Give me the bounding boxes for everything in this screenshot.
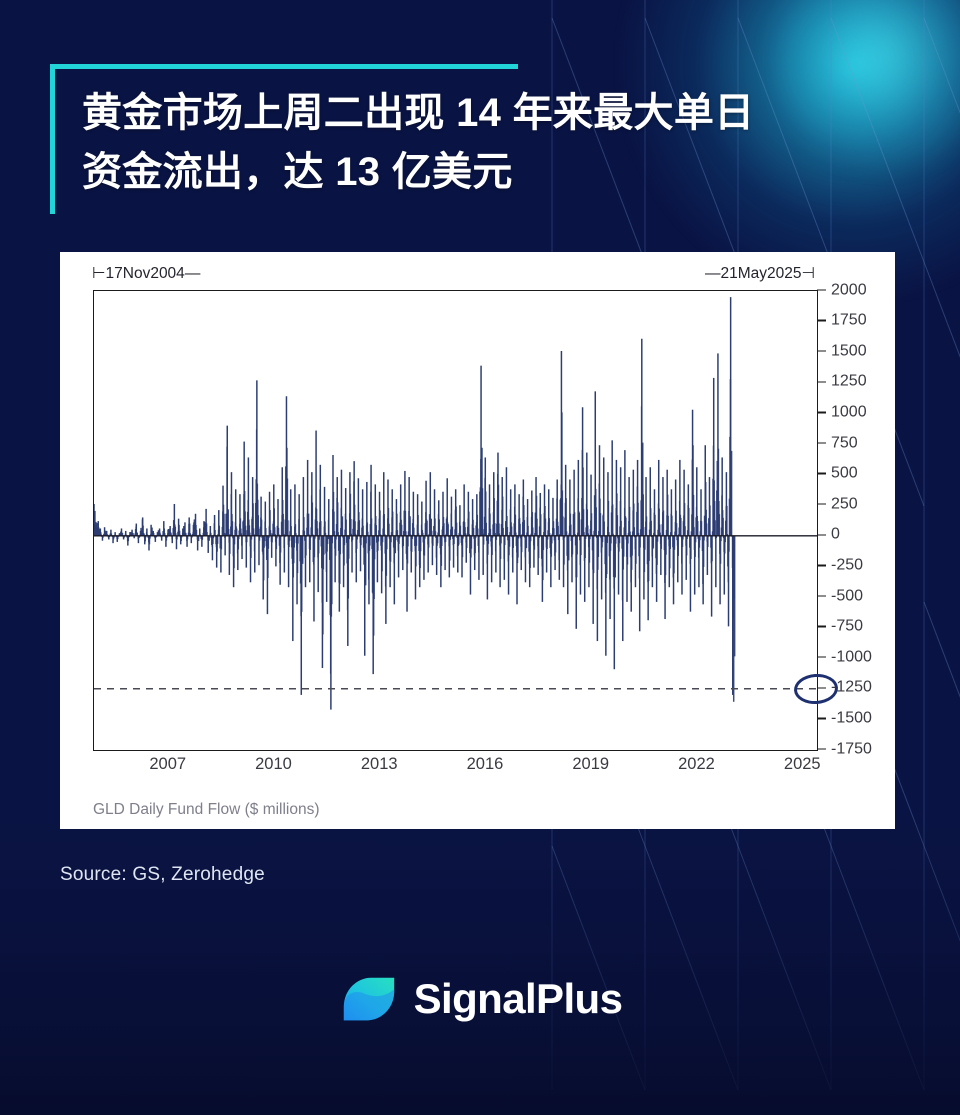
y-axis-tick: 1250 <box>817 381 867 382</box>
y-tick-label: 250 <box>831 496 858 512</box>
page-title: 黄金市场上周二出现 14 年来最大单日 资金流出，达 13 亿美元 <box>82 64 912 202</box>
y-axis-tick: -1500 <box>817 718 872 719</box>
chart-start-date-label: ⊢17Nov2004— <box>92 264 200 283</box>
accent-bar-horizontal <box>50 64 518 69</box>
bar-series-svg <box>94 291 817 750</box>
y-axis-tick: -1000 <box>817 657 872 658</box>
y-tick-label: 750 <box>831 435 858 451</box>
y-tick-label: -1000 <box>831 649 872 665</box>
y-tick-label: 1500 <box>831 343 867 359</box>
y-tick-mark <box>817 748 826 750</box>
y-tick-label: -1500 <box>831 710 872 726</box>
x-axis-tick-label: 2007 <box>149 755 186 774</box>
y-tick-label: 1750 <box>831 313 867 329</box>
y-tick-mark <box>817 626 826 628</box>
header: 黄金市场上周二出现 14 年来最大单日 资金流出，达 13 亿美元 <box>50 64 910 202</box>
y-tick-label: 1000 <box>831 404 867 420</box>
chart-end-date-label: —21May2025⊣ <box>705 264 815 283</box>
x-axis-tick-label: 2016 <box>467 755 504 774</box>
y-tick-mark <box>817 289 826 291</box>
y-axis-tick: 1750 <box>817 320 867 321</box>
y-axis-tick: -500 <box>817 596 863 597</box>
y-tick-label: -500 <box>831 588 863 604</box>
y-axis: 200017501500125010007505002500-250-500-7… <box>817 290 895 751</box>
y-tick-label: 2000 <box>831 282 867 298</box>
y-tick-mark <box>817 503 826 505</box>
x-axis-tick-label: 2013 <box>361 755 398 774</box>
y-axis-tick: 1500 <box>817 351 867 352</box>
y-tick-mark <box>817 412 826 414</box>
x-axis-tick-label: 2010 <box>255 755 292 774</box>
y-tick-label: -250 <box>831 557 863 573</box>
y-axis-tick: 750 <box>817 443 858 444</box>
y-axis-tick: -1250 <box>817 687 872 688</box>
y-axis-tick: -1750 <box>817 749 872 750</box>
y-axis-tick: 2000 <box>817 290 867 291</box>
x-axis-tick-label: 2019 <box>572 755 609 774</box>
y-tick-mark <box>817 473 826 475</box>
end-bracket: ⊣ <box>801 265 815 282</box>
y-axis-tick: 0 <box>817 534 840 535</box>
y-tick-mark <box>817 442 826 444</box>
x-axis-tick-label: 2022 <box>678 755 715 774</box>
end-dash: — <box>705 265 721 282</box>
y-tick-mark <box>817 381 826 383</box>
title-line-1: 黄金市场上周二出现 14 年来最大单日 <box>82 84 912 143</box>
brand-name: SignalPlus <box>414 978 623 1020</box>
y-tick-label: 0 <box>831 527 840 543</box>
chart-card: ⊢17Nov2004— —21May2025⊣ 2000175015001250… <box>60 252 895 829</box>
y-axis-tick: 500 <box>817 473 858 474</box>
y-tick-mark <box>817 718 826 720</box>
y-tick-label: 500 <box>831 466 858 482</box>
y-tick-label: -1750 <box>831 741 872 757</box>
y-tick-mark <box>817 534 826 536</box>
chart-caption: GLD Daily Fund Flow ($ millions) <box>93 801 320 819</box>
y-tick-mark <box>817 687 826 689</box>
bottom-vignette <box>0 815 960 1115</box>
y-axis-tick: -750 <box>817 626 863 627</box>
x-axis-tick-label: 2025 <box>784 755 821 774</box>
y-tick-mark <box>817 656 826 658</box>
y-axis-tick: -250 <box>817 565 863 566</box>
y-tick-label: -750 <box>831 619 863 635</box>
y-tick-label: -1250 <box>831 680 872 696</box>
y-tick-mark <box>817 595 826 597</box>
y-tick-label: 1250 <box>831 374 867 390</box>
y-tick-mark <box>817 350 826 352</box>
plot-area <box>93 290 818 751</box>
accent-bar-vertical <box>50 64 55 214</box>
y-axis-tick: 250 <box>817 504 858 505</box>
signalplus-wave-mark-icon <box>338 968 400 1030</box>
start-dash: — <box>185 265 201 282</box>
chart: ⊢17Nov2004— —21May2025⊣ 2000175015001250… <box>60 252 895 829</box>
start-bracket: ⊢ <box>92 265 106 282</box>
y-tick-mark <box>817 565 826 567</box>
source-label: Source: GS, Zerohedge <box>60 864 265 886</box>
brand-logo: SignalPlus <box>0 968 960 1030</box>
title-line-2: 资金流出，达 13 亿美元 <box>82 143 912 202</box>
y-axis-tick: 1000 <box>817 412 867 413</box>
y-tick-mark <box>817 320 826 322</box>
